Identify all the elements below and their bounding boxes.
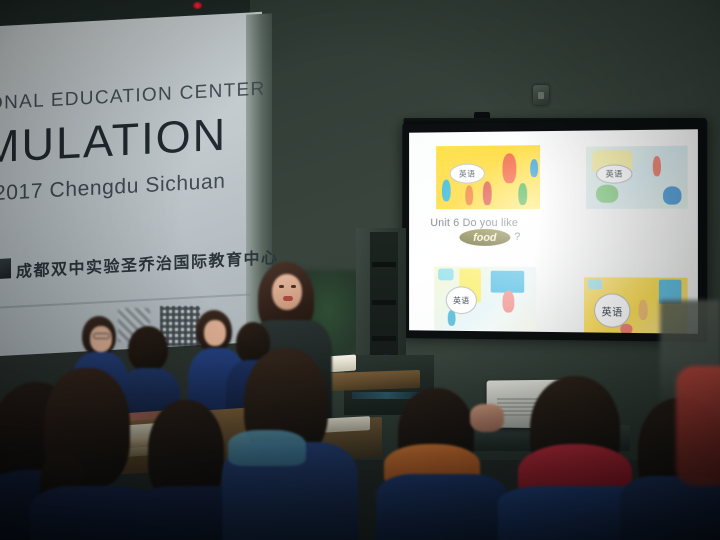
wall-speaker-grille (538, 92, 544, 99)
banner-logo (0, 258, 11, 279)
backpack (676, 366, 720, 486)
slide-tile-bottom-left: 英语 (434, 266, 536, 330)
student-hands (470, 404, 504, 432)
teacher-eye (291, 285, 296, 288)
student-collar (228, 430, 306, 466)
slide-tile-bubble: 英语 (596, 164, 632, 183)
banner-line-3: 2017 Chengdu Sichuan (0, 170, 226, 207)
slide-title: Unit 6 Do you like (430, 217, 518, 229)
rack-shelf (372, 262, 396, 267)
slide-title-suffix: ? (514, 231, 520, 243)
banner-line-2: MULATION (0, 109, 227, 174)
slide-tile-top-right: 英语 (586, 146, 688, 209)
banner: ONAL EDUCATION CENTER MULATION 2017 Chen… (0, 53, 252, 297)
banner-chinese-name: 成都双中实验圣乔治国际教育中心 (16, 244, 279, 282)
slide-content: 英语 英语 英语 (409, 129, 698, 334)
slide-highlight-word: food (459, 229, 510, 246)
slide-tile-bubble: 英语 (450, 164, 485, 184)
rack-shelf (372, 336, 396, 341)
student-face (90, 326, 112, 352)
slide-tile-bubble: 英语 (594, 293, 630, 328)
rack-shelf (372, 300, 396, 305)
teacher-eye (279, 285, 284, 288)
classroom-photo: ONAL EDUCATION CENTER MULATION 2017 Chen… (0, 0, 720, 540)
slide-tile-top-left: 英语 (436, 145, 540, 209)
teacher-mouth (283, 296, 293, 301)
ceiling-indicator-light-icon (193, 2, 202, 9)
slide-tile-bubble: 英语 (446, 286, 477, 314)
teacher-face (272, 274, 302, 310)
glasses-icon (93, 333, 110, 339)
student-face (204, 320, 226, 346)
student-torso (376, 474, 508, 540)
student-head (128, 326, 168, 372)
